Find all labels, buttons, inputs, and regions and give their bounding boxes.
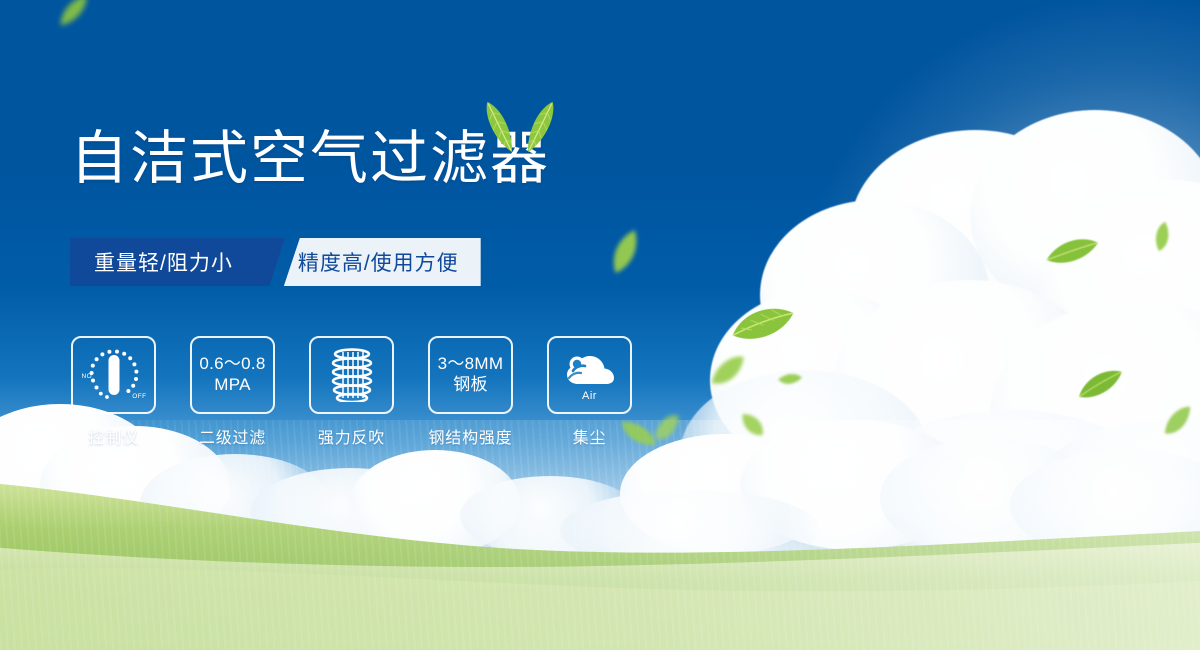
- feature-icon-box: [309, 336, 394, 414]
- feature-icon-box: 0.6～0.8 MPA: [190, 336, 275, 414]
- subtitle-wedge-divider: [259, 238, 285, 286]
- page-title: 自洁式空气过滤器: [70, 128, 730, 189]
- cloud-air-icon: Air: [560, 350, 620, 400]
- pressure-text-icon: 0.6～0.8 MPA: [199, 354, 265, 395]
- feature-item[interactable]: 强力反吹: [308, 336, 395, 448]
- feature-caption: 强力反吹: [318, 424, 385, 448]
- feature-icon-box: Air: [547, 336, 632, 414]
- gauge-label-off: OFF: [132, 393, 146, 400]
- feature-icon-box: NO OFF: [71, 336, 156, 414]
- feature-icon-row: NO OFF 控制仪 0.6～0.8 MPA 二级过滤: [70, 336, 633, 448]
- gauge-label-no: NO: [82, 373, 93, 380]
- feature-item[interactable]: 3～8MM 钢板 钢结构强度: [427, 336, 514, 448]
- headline-block: 自洁式空气过滤器: [70, 128, 730, 189]
- feature-item[interactable]: Air 集尘: [546, 336, 633, 448]
- feature-icon-box: 3～8MM 钢板: [428, 336, 513, 414]
- gauge-icon: NO OFF: [83, 347, 145, 403]
- product-banner: 自洁式空气过滤器 重量轻/阻力小 精度高/使用方便: [0, 0, 1200, 650]
- feature-item[interactable]: NO OFF 控制仪: [70, 336, 157, 448]
- subtitle-left-segment: 重量轻/阻力小: [70, 238, 259, 286]
- feature-caption: 控制仪: [88, 424, 138, 448]
- sky-background: [0, 0, 1200, 650]
- gauge-needle: [108, 355, 119, 395]
- steel-plate-text-icon: 3～8MM 钢板: [438, 354, 504, 395]
- subtitle-bar: 重量轻/阻力小 精度高/使用方便: [70, 238, 481, 286]
- filter-stack-icon: [329, 348, 375, 402]
- feature-item[interactable]: 0.6～0.8 MPA 二级过滤: [189, 336, 276, 448]
- subtitle-right-segment: 精度高/使用方便: [284, 238, 481, 286]
- air-label: Air: [560, 390, 620, 402]
- feature-caption: 二级过滤: [199, 424, 266, 448]
- feature-caption: 钢结构强度: [428, 424, 512, 448]
- feature-caption: 集尘: [573, 424, 607, 448]
